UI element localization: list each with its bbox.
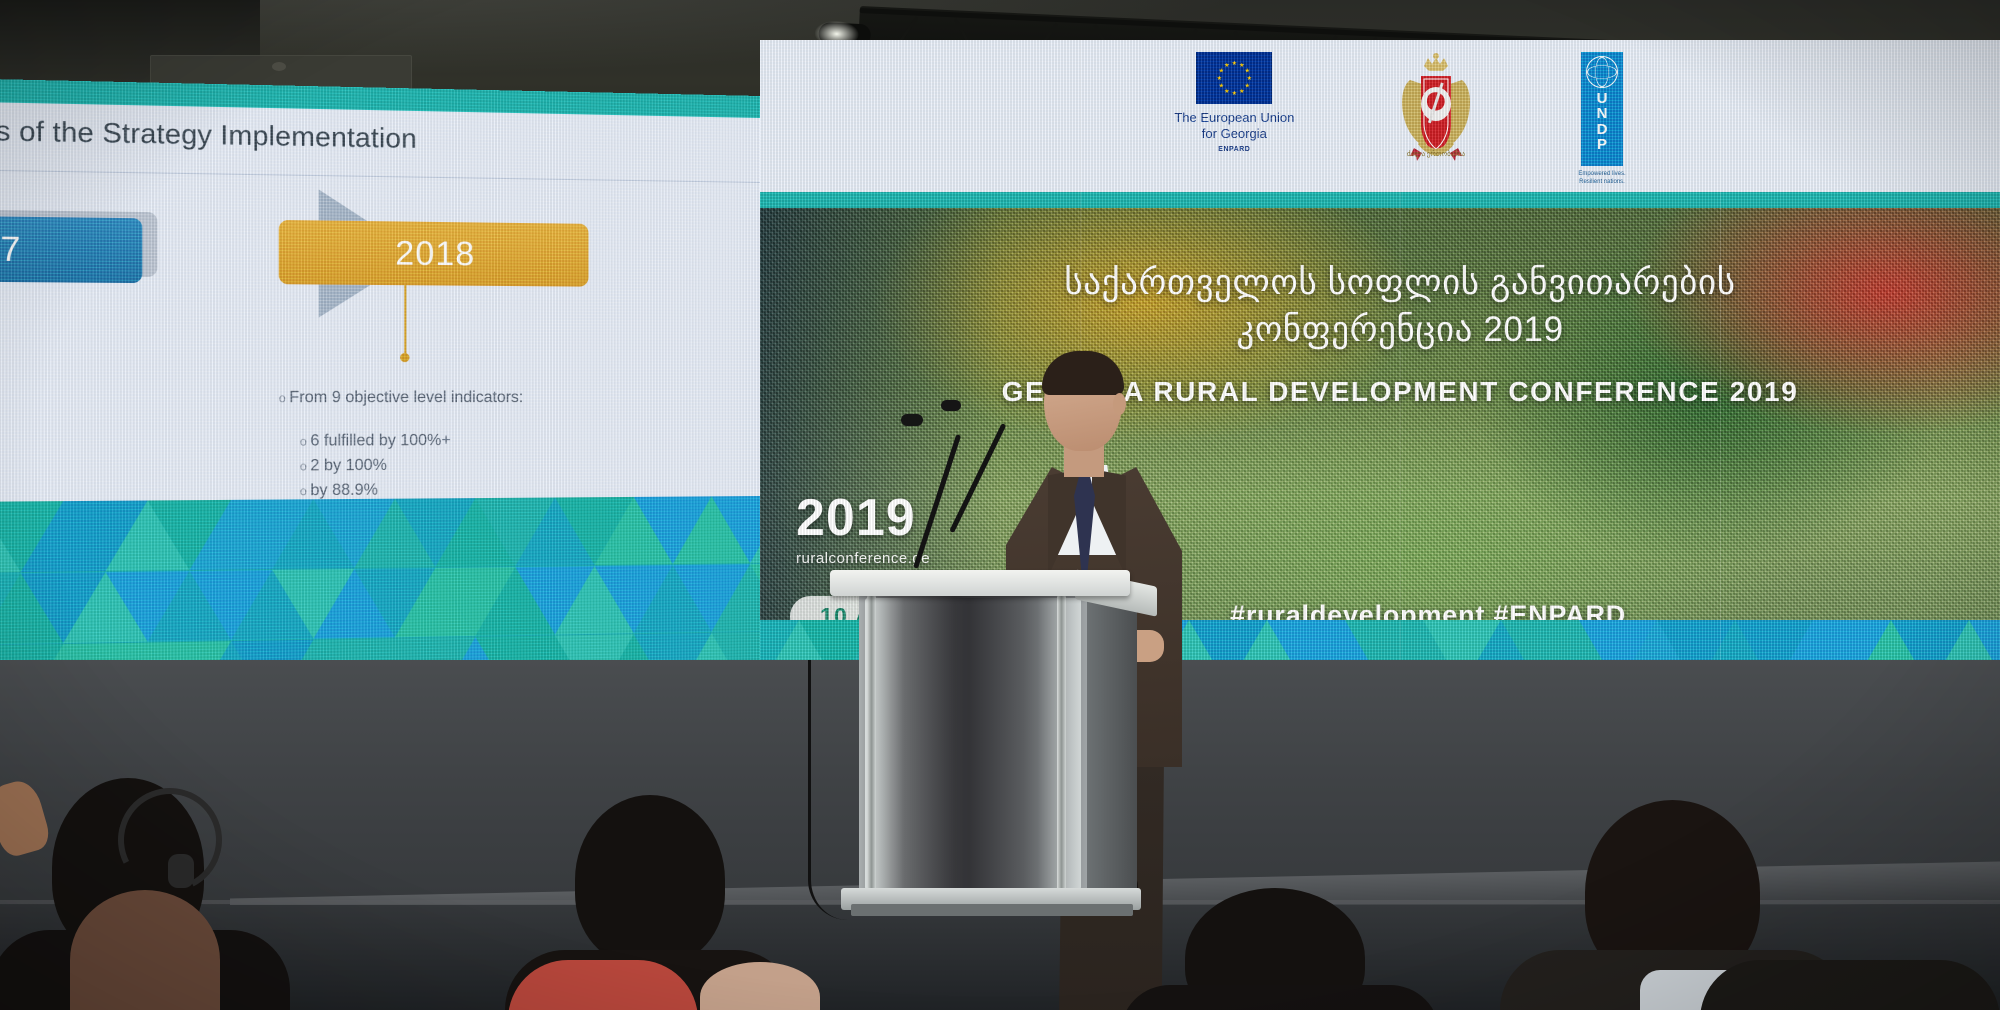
undp-letter: N (1597, 106, 1608, 121)
eu-star-icon (1224, 63, 1229, 68)
eu-flag-logo: The European Union for Georgia ENPARD (1174, 52, 1294, 153)
eu-star-icon (1219, 68, 1224, 73)
indicators-2017-bullet: d partially; (0, 454, 164, 481)
eu-star-icon (1239, 88, 1244, 93)
branding-teal-divider (760, 192, 2000, 208)
timeline-stem-2018 (404, 285, 406, 357)
led-wall-left-panel: ults of the Strategy Implementation 2017… (0, 78, 760, 714)
indicators-2018-bullet: 6 fulfilled by 100%+ (300, 428, 659, 454)
timeline-dot-2018 (400, 353, 409, 362)
eu-star-icon (1217, 76, 1222, 81)
ceiling-smoke-detector-icon (272, 62, 286, 71)
headset-earcup-icon (168, 854, 194, 888)
year-pill-2017: 2017 (0, 214, 142, 283)
eu-flag-icon (1196, 52, 1272, 104)
podium-foot (851, 904, 1133, 916)
year-pill-2017-label: 2017 (0, 228, 22, 269)
partner-logos: The European Union for Georgia ENPARD (760, 52, 2000, 182)
eu-star-icon (1245, 83, 1250, 88)
undp-caption-line1: Empowered lives. (1578, 171, 1625, 179)
audience-head (575, 795, 725, 965)
eu-caption-line1: The European Union (1174, 110, 1294, 126)
coat-of-arms-icon: ძალა ერთობაშია (1380, 52, 1492, 170)
eu-enpard-label: ENPARD (1218, 146, 1250, 153)
indicators-2018-header: From 9 objective level indicators: (279, 386, 659, 411)
undp-globe-icon (1586, 56, 1618, 88)
eu-star-icon (1224, 88, 1229, 93)
podium-post (1057, 594, 1066, 894)
podium-glass-front (865, 598, 1081, 890)
undp-logo: U N D P Empowered lives. Resilient natio… (1578, 52, 1625, 186)
podium-cable (808, 660, 871, 920)
eu-star-icon (1232, 91, 1237, 96)
speaker-ear (1113, 393, 1126, 415)
svg-text:ძალა ერთობაშია: ძალა ერთობაშია (1407, 150, 1466, 158)
podium-lectern (845, 570, 1115, 925)
eu-star-icon (1247, 76, 1252, 81)
undp-icon: U N D P (1581, 52, 1623, 166)
indicators-2017-bullet: d by 100% or 100%+; (0, 429, 164, 455)
scene-root: ults of the Strategy Implementation 2017… (0, 0, 2000, 1010)
year-pill-2018-label: 2018 (395, 234, 475, 274)
eu-star-icon (1239, 63, 1244, 68)
indicators-2018-bullet: 2 by 100% (300, 452, 659, 478)
year-pill-2018: 2018 (279, 220, 589, 287)
microphone-icon (901, 414, 923, 426)
podium-top-surface (830, 570, 1130, 596)
eu-star-icon (1232, 61, 1237, 66)
eu-star-icon (1219, 83, 1224, 88)
speaker-hair (1042, 351, 1124, 395)
undp-letter: D (1597, 122, 1608, 137)
audience-shoulders (1120, 985, 1440, 1010)
microphone-icon (941, 400, 961, 411)
audience-shoulders (1700, 960, 2000, 1010)
conference-title-block: საქართველოს სოფლის განვითარების კონფერენ… (760, 260, 2000, 408)
conference-title-georgian-line1: საქართველოს სოფლის განვითარების (760, 260, 2000, 307)
eu-star-icon (1245, 68, 1250, 73)
undp-caption-line2: Resilient nations. (1578, 179, 1625, 187)
slide-strategy-results: ults of the Strategy Implementation 2017… (0, 78, 760, 714)
undp-letter: U (1597, 91, 1608, 106)
indicators-2017-header: r level indicators: (0, 385, 164, 411)
eu-caption-line2: for Georgia (1174, 126, 1294, 142)
triangle-tile (750, 496, 760, 563)
undp-letter: P (1597, 137, 1607, 152)
triangle-tile (750, 563, 760, 631)
georgia-coat-of-arms-logo: ძალა ერთობაშია (1380, 52, 1492, 170)
conference-title-georgian-line2: კონფერენცია 2019 (760, 307, 2000, 354)
